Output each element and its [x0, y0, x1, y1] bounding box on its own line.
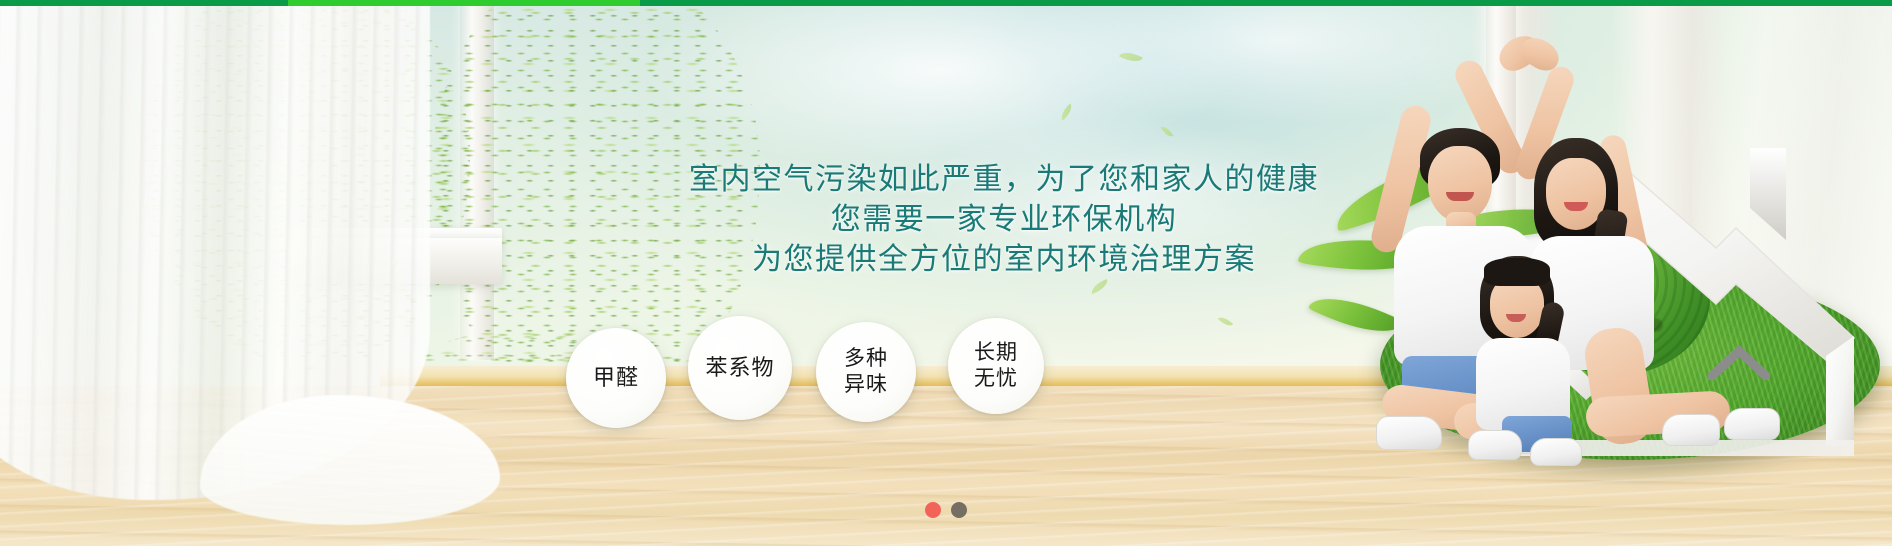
headline-line-3: 为您提供全方位的室内环境治理方案: [689, 240, 1319, 280]
top-accent-bar: [0, 0, 1892, 6]
badge-long-term-worry-free[interactable]: 长期 无忧: [948, 318, 1044, 414]
daughter-shoe-left: [1468, 430, 1522, 460]
badge-formaldehyde-label: 甲醛: [593, 365, 639, 391]
sky-background: [640, 0, 1500, 330]
badge-formaldehyde[interactable]: 甲醛: [566, 328, 666, 428]
carousel-dots: [0, 502, 1892, 518]
floating-petal-3: [1160, 124, 1173, 140]
feature-badge-group: 甲醛 苯系物 多种 异味 长期 无忧: [560, 306, 1120, 446]
badge-multi-odor-label-2: 异味: [844, 372, 888, 398]
carousel-dot-2[interactable]: [951, 502, 967, 518]
family-photo-group: [1380, 60, 1810, 480]
headline-line-1: 室内空气污染如此严重，为了您和家人的健康: [689, 160, 1319, 200]
badge-benzene-series[interactable]: 苯系物: [688, 316, 792, 420]
headline-line-2: 您需要一家专业环保机构: [689, 200, 1319, 240]
floating-petal-1: [1119, 47, 1143, 66]
daughter-bangs: [1484, 258, 1550, 286]
floating-petal-5: [1218, 314, 1234, 329]
father-face: [1428, 146, 1492, 222]
badge-multi-odor[interactable]: 多种 异味: [816, 322, 916, 422]
floating-petal-2: [1058, 103, 1076, 120]
mother-shoe-left: [1662, 414, 1720, 446]
father-shoe-left: [1376, 416, 1442, 450]
badge-long-term-label-2: 无忧: [974, 366, 1018, 392]
mother-shoe-right: [1724, 408, 1780, 440]
carousel-dot-1[interactable]: [925, 502, 941, 518]
daughter-shoe-right: [1530, 438, 1582, 466]
hero-banner: 室内空气污染如此严重，为了您和家人的健康 您需要一家专业环保机构 为您提供全方位…: [0, 0, 1892, 546]
top-accent-bar-highlight: [288, 0, 640, 6]
badge-long-term-label-1: 长期: [974, 340, 1018, 366]
badge-benzene-series-label: 苯系物: [705, 355, 774, 381]
badge-multi-odor-label-1: 多种: [844, 346, 888, 372]
floating-petal-4: [1089, 279, 1110, 294]
